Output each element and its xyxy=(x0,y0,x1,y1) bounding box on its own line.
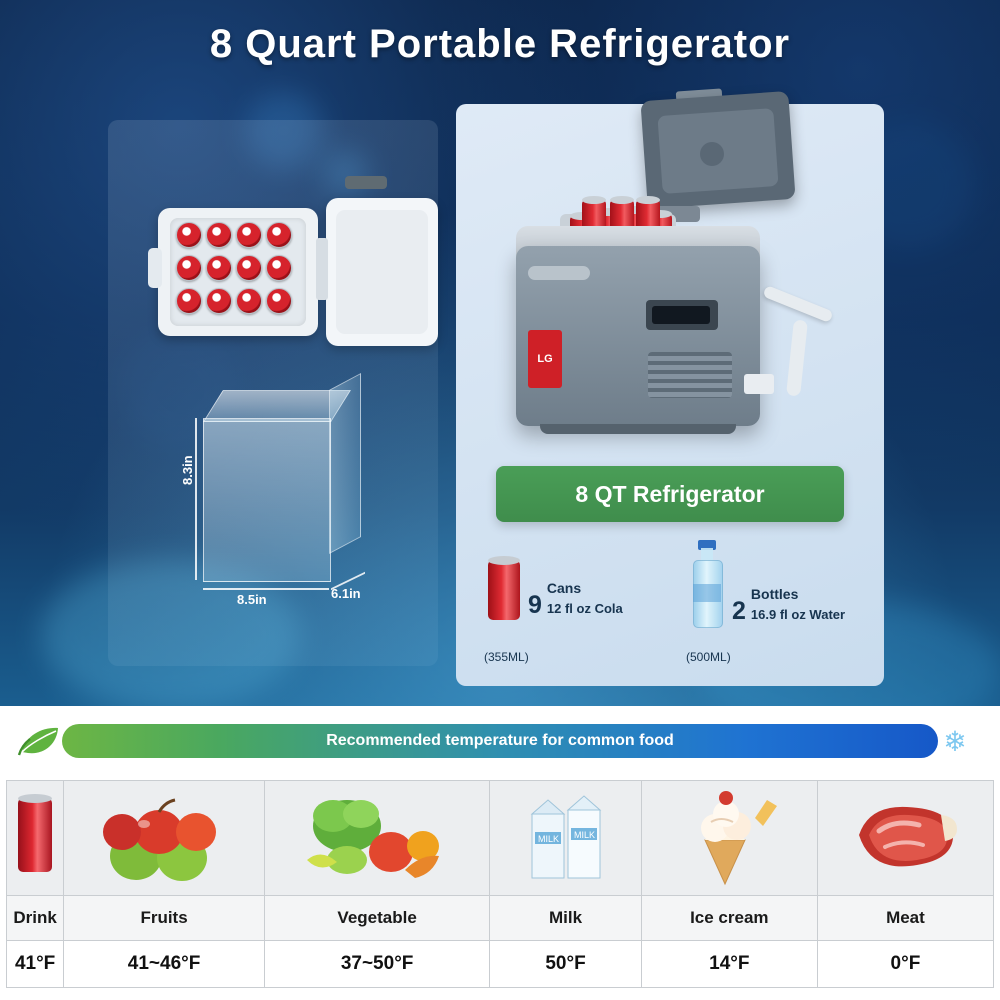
food-name-ice-cream: Ice cream xyxy=(641,896,817,941)
svg-text:MILK: MILK xyxy=(574,830,595,840)
capacity-ribbon: 8 QT Refrigerator xyxy=(496,466,844,522)
can-top-icon xyxy=(266,255,292,281)
dimension-label-width: 8.5in xyxy=(237,592,267,607)
dimension-line-width xyxy=(203,588,329,590)
can-top-icon xyxy=(176,288,202,314)
bottles-count: 2 xyxy=(732,597,746,626)
food-image-vegetable xyxy=(264,781,489,896)
temperature-section: Recommended temperature for common food … xyxy=(0,706,1000,1000)
food-name-drink: Drink xyxy=(7,896,64,941)
food-temp-milk: 50°F xyxy=(490,941,641,988)
food-image-fruits xyxy=(64,781,265,896)
fridge-side-handle xyxy=(528,266,590,280)
water-bottle-icon xyxy=(690,540,724,626)
can-top-icon xyxy=(206,255,232,281)
bottles-detail: 16.9 fl oz Water xyxy=(751,607,845,622)
cooler-hinge xyxy=(316,238,328,300)
fridge-lid-knob xyxy=(700,142,724,166)
band-label: Recommended temperature for common food xyxy=(326,732,674,750)
food-temp-fruits: 41~46°F xyxy=(64,941,265,988)
food-name-meat: Meat xyxy=(817,896,993,941)
food-temp-meat: 0°F xyxy=(817,941,993,988)
cans-count: 9 xyxy=(528,591,542,620)
leaf-icon xyxy=(16,724,62,758)
food-image-ice-cream xyxy=(641,781,817,896)
ribbon-label: 8 QT Refrigerator xyxy=(575,481,764,508)
can-top-icon xyxy=(266,288,292,314)
fridge-base xyxy=(540,424,736,434)
cans-metric: (355ML) xyxy=(484,650,529,664)
vent-grill xyxy=(648,352,732,398)
food-image-drink xyxy=(7,781,64,896)
can-top-icon xyxy=(236,288,262,314)
cooler-side-grip xyxy=(148,248,162,288)
snowflake-icon: ❄ xyxy=(938,726,972,758)
recommendation-band-wrap: Recommended temperature for common food … xyxy=(0,720,1000,766)
table-row-temps: 41°F 41~46°F 37~50°F 50°F 14°F 0°F xyxy=(7,941,994,988)
food-temp-ice-cream: 14°F xyxy=(641,941,817,988)
capacity-cans: 9 Cans 12 fl oz Cola xyxy=(488,560,623,620)
cans-detail: 12 fl oz Cola xyxy=(547,601,623,616)
table-row-names: Drink Fruits Vegetable Milk Ice cream Me… xyxy=(7,896,994,941)
can-top-icon xyxy=(206,288,232,314)
hero-section: 8 Quart Portable Refrigerator 8.3in 8.5i… xyxy=(0,0,1000,706)
food-image-milk: MILK MILK xyxy=(490,781,641,896)
milk-carton-icon: MILK MILK xyxy=(506,786,626,886)
soda-can-icon xyxy=(8,782,62,894)
food-image-meat xyxy=(817,781,993,896)
page-title: 8 Quart Portable Refrigerator xyxy=(0,22,1000,67)
capacity-bottles: 2 Bottles 16.9 fl oz Water xyxy=(690,540,845,626)
vegetables-icon xyxy=(287,786,467,886)
dimension-label-height: 8.3in xyxy=(180,455,195,485)
can-top-icon xyxy=(266,222,292,248)
bottles-metric: (500ML) xyxy=(686,650,731,664)
food-name-fruits: Fruits xyxy=(64,896,265,941)
can-top-icon xyxy=(176,222,202,248)
can-top-icon xyxy=(236,255,262,281)
power-switch[interactable] xyxy=(744,374,774,394)
food-name-vegetable: Vegetable xyxy=(264,896,489,941)
food-temp-vegetable: 37~50°F xyxy=(264,941,489,988)
cans-topdown-group xyxy=(176,222,300,322)
recommendation-band: Recommended temperature for common food xyxy=(62,724,938,758)
can-top-icon xyxy=(236,222,262,248)
brand-badge: LG xyxy=(528,330,562,388)
cube-front-face xyxy=(203,418,331,582)
food-temperature-table: MILK MILK xyxy=(6,780,994,988)
steak-icon xyxy=(835,791,975,881)
food-temp-drink: 41°F xyxy=(7,941,64,988)
table-row-images: MILK MILK xyxy=(7,781,994,896)
svg-text:MILK: MILK xyxy=(538,834,559,844)
dimension-cube: 8.3in 8.5in 6.1in xyxy=(185,390,365,605)
bottles-unit: Bottles xyxy=(751,586,845,602)
dimension-label-depth: 6.1in xyxy=(331,586,361,601)
cans-unit: Cans xyxy=(547,580,623,596)
can-top-icon xyxy=(176,255,202,281)
ice-cream-icon xyxy=(659,784,799,888)
cooler-handle-icon xyxy=(345,176,387,189)
product-infographic: 8 Quart Portable Refrigerator 8.3in 8.5i… xyxy=(0,0,1000,1000)
food-name-milk: Milk xyxy=(490,896,641,941)
can-top-icon xyxy=(206,222,232,248)
control-display xyxy=(652,306,710,324)
dimension-line-height xyxy=(195,418,197,580)
bottle-label xyxy=(693,584,721,602)
cooler-lid-inner xyxy=(336,210,428,334)
soda-can-icon xyxy=(488,560,520,620)
cube-side-face xyxy=(329,373,361,554)
apples-icon xyxy=(84,786,244,886)
